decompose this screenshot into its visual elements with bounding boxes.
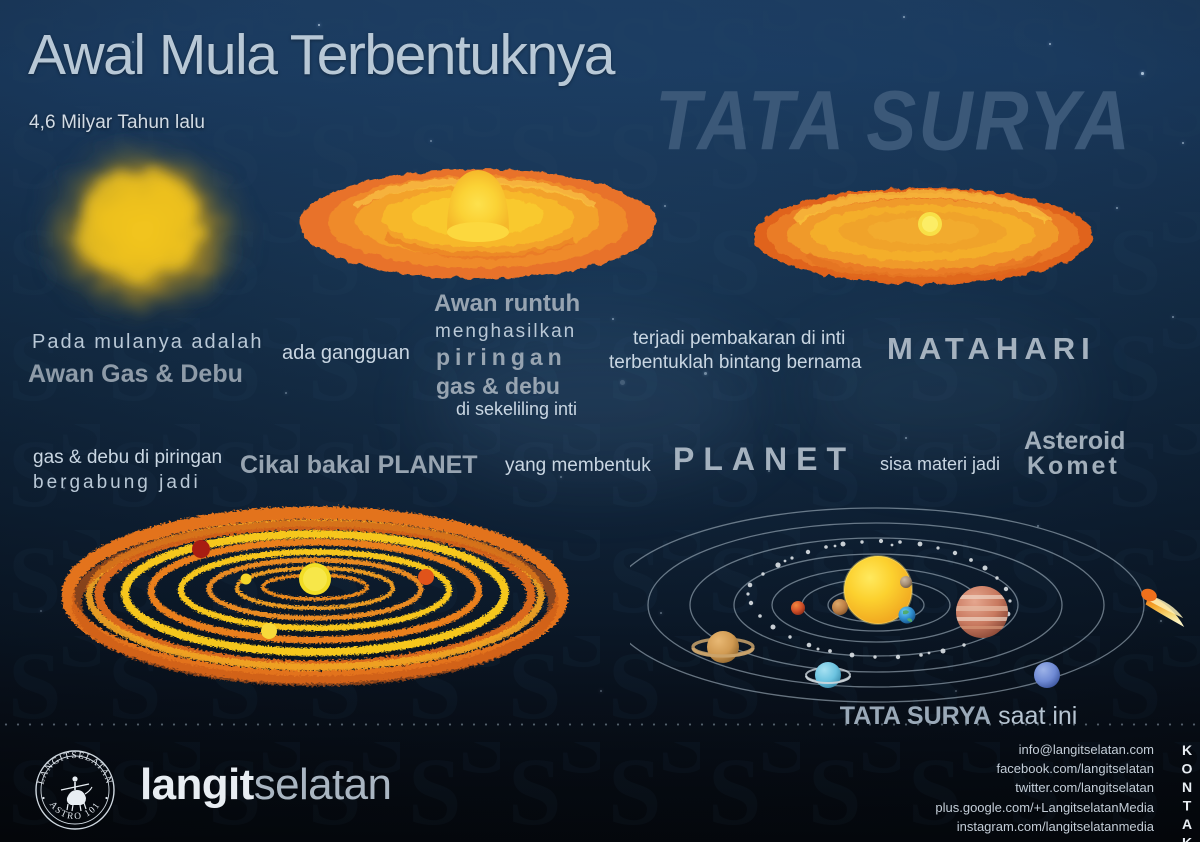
infographic-poster: S S TATA SURYA: [0, 0, 1200, 842]
label-collapse-line1: Awan runtuh: [434, 292, 580, 316]
protostar-disk: [748, 178, 1098, 293]
contact-instagram[interactable]: instagram.com/langitselatanmedia: [935, 817, 1154, 836]
label-asteroid: Asteroid: [1024, 429, 1125, 455]
label-dust-line1: gas & debu di piringan: [33, 448, 222, 467]
planetesimal-inner: [241, 574, 252, 585]
label-leftover: sisa materi jadi: [880, 455, 1000, 473]
planet-venus: [832, 599, 848, 615]
label-collapse-line3: piringan: [436, 346, 567, 369]
planetesimal-orange: [418, 569, 434, 585]
label-protoplanet: Cikal bakal PLANET: [240, 453, 478, 479]
collapsing-cloud-disk: [295, 136, 660, 296]
label-fusion-line2: terbentuklah bintang bernama: [609, 353, 861, 372]
label-disturbance: ada gangguan: [282, 343, 410, 363]
contact-facebook[interactable]: facebook.com/langitselatan: [935, 759, 1154, 778]
label-collapse-line4: gas & debu: [436, 375, 560, 398]
planet-earth: [899, 607, 916, 624]
page-title-tata-surya: TATA SURYA: [655, 72, 1132, 168]
label-fusion-line1: terjadi pembakaran di inti: [633, 329, 845, 348]
contact-section-label: KONTAK: [1180, 742, 1194, 842]
planet-mercury: [900, 576, 912, 588]
label-cloud-line2: Awan Gas & Debu: [28, 362, 243, 388]
seal-centaur-figure: [61, 776, 92, 811]
label-collapse-line2: menghasilkan: [435, 322, 576, 341]
label-dust-line2: bergabung jadi: [33, 473, 201, 492]
footer-divider: [0, 723, 1200, 726]
brand-wordmark: langitselatan: [140, 760, 391, 810]
langitselatan-seal-logo: LANGITSELATAN ASTRO 101: [31, 746, 119, 834]
brand-light: selatan: [254, 760, 392, 809]
planetesimal-red: [192, 540, 210, 558]
brand-bold: langit: [140, 760, 254, 809]
contact-email[interactable]: info@langitselatan.com: [935, 740, 1154, 759]
planet-mars: [791, 601, 805, 615]
label-forming: yang membentuk: [505, 456, 651, 475]
protoplanetary-disk-illustration: [60, 495, 580, 695]
label-cloud-line1: Pada mulanya adalah: [32, 332, 263, 352]
label-planet: PLANET: [673, 443, 855, 476]
contact-list: info@langitselatan.com facebook.com/lang…: [935, 740, 1154, 836]
label-matahari: MATAHARI: [887, 333, 1096, 365]
label-collapse-line5: di sekeliling inti: [456, 400, 577, 418]
label-komet: Komet: [1027, 454, 1120, 480]
page-title: Awal Mula Terbentuknya: [28, 22, 614, 88]
contact-twitter[interactable]: twitter.com/langitselatan: [935, 778, 1154, 797]
planetesimal-lower: [261, 623, 277, 639]
planet-jupiter: [956, 586, 1008, 638]
gas-dust-cloud-illustration: [8, 118, 278, 338]
contact-googleplus[interactable]: plus.google.com/+LangitselatanMedia: [935, 798, 1154, 817]
